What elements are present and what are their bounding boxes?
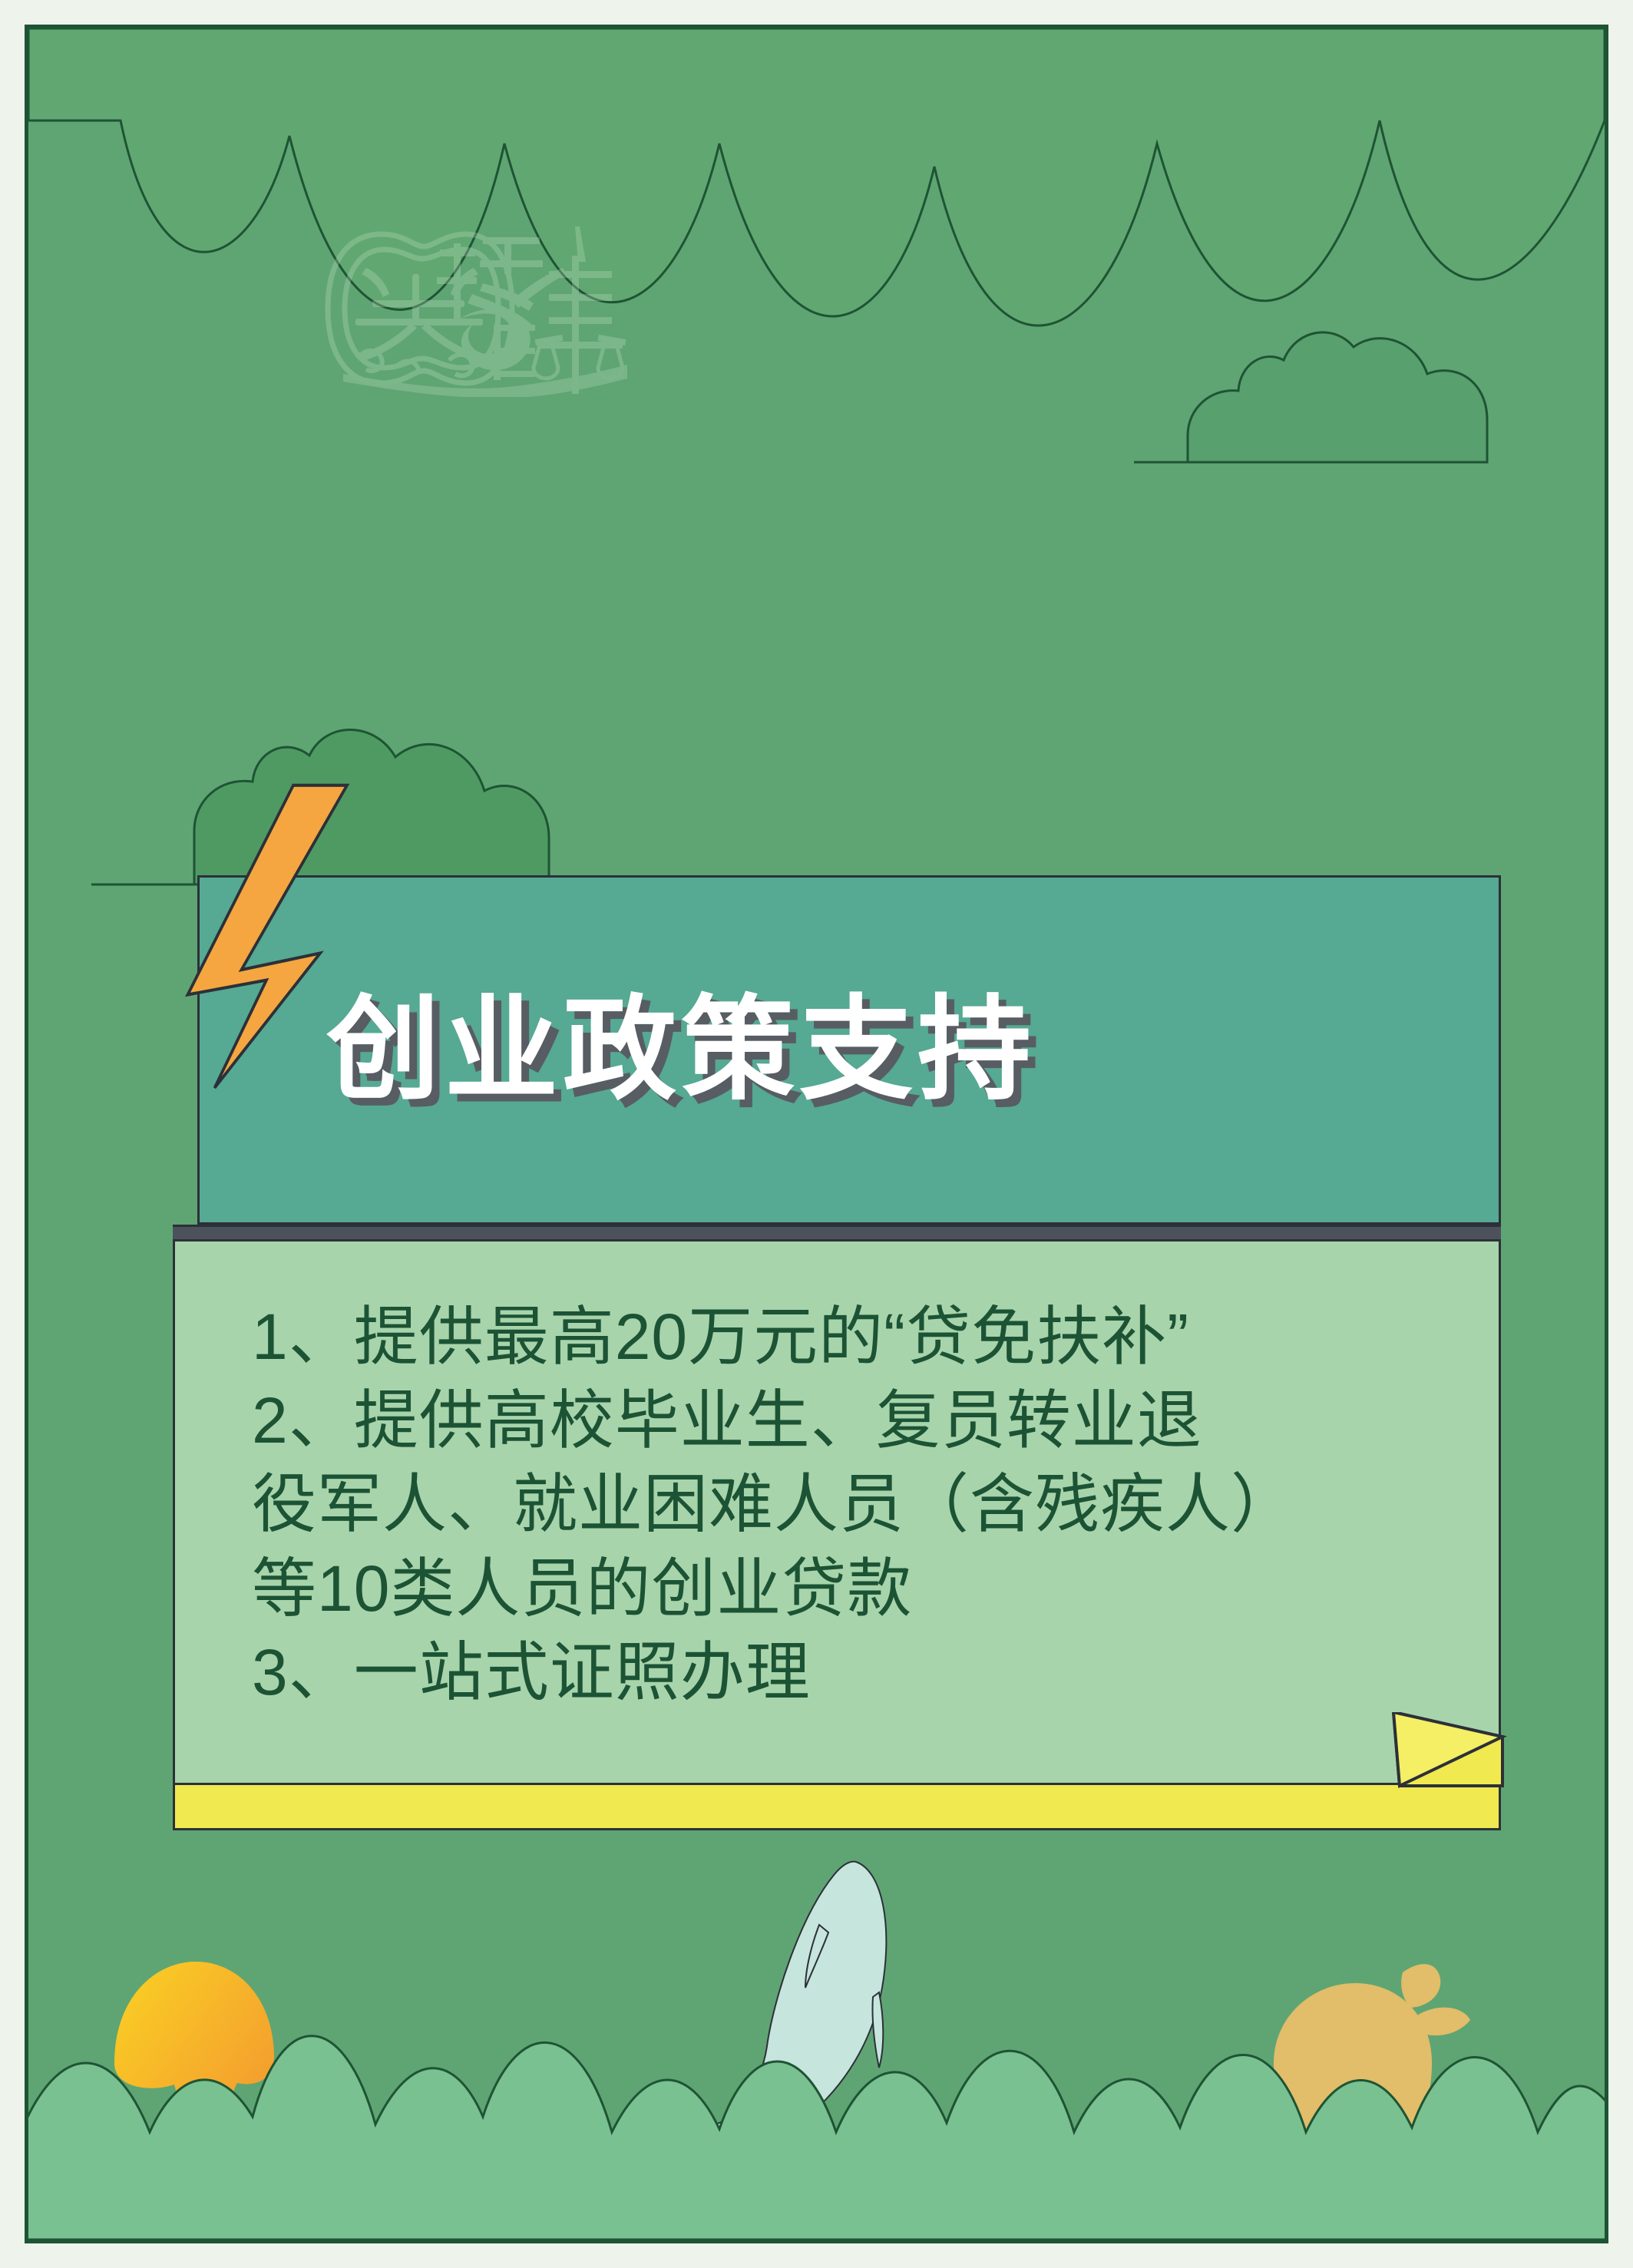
cloud-right <box>1126 328 1495 466</box>
card-body: 1、提供最高20万元的“贷免扶补” 2、提供高校毕业生、复员转业退 役军人、就业… <box>173 1241 1501 1783</box>
policy-line-4: 等10类人员的创业贷款 <box>252 1547 1499 1631</box>
policy-line-1: 1、提供最高20万元的“贷免扶补” <box>252 1295 1499 1379</box>
bottom-scene <box>28 1810 1605 2240</box>
page-title: 创业政策支持 <box>326 993 1036 1107</box>
card-header: 创业政策支持 <box>197 875 1501 1225</box>
policy-line-2: 2、提供高校毕业生、复员转业退 <box>252 1379 1499 1463</box>
poster-canvas: 创业政策支持 1、提供最高20万元的“贷免扶补” 2、提供高校毕业生、复员转业退… <box>25 25 1608 2243</box>
policy-card: 创业政策支持 1、提供最高20万元的“贷免扶补” 2、提供高校毕业生、复员转业退… <box>173 875 1501 1852</box>
card-divider <box>173 1225 1501 1241</box>
policy-line-3: 役军人、就业困难人员（含残疾人） <box>252 1463 1499 1546</box>
policy-line-5: 3、一站式证照办理 <box>252 1631 1499 1714</box>
lightning-bolt-icon <box>144 777 351 1099</box>
